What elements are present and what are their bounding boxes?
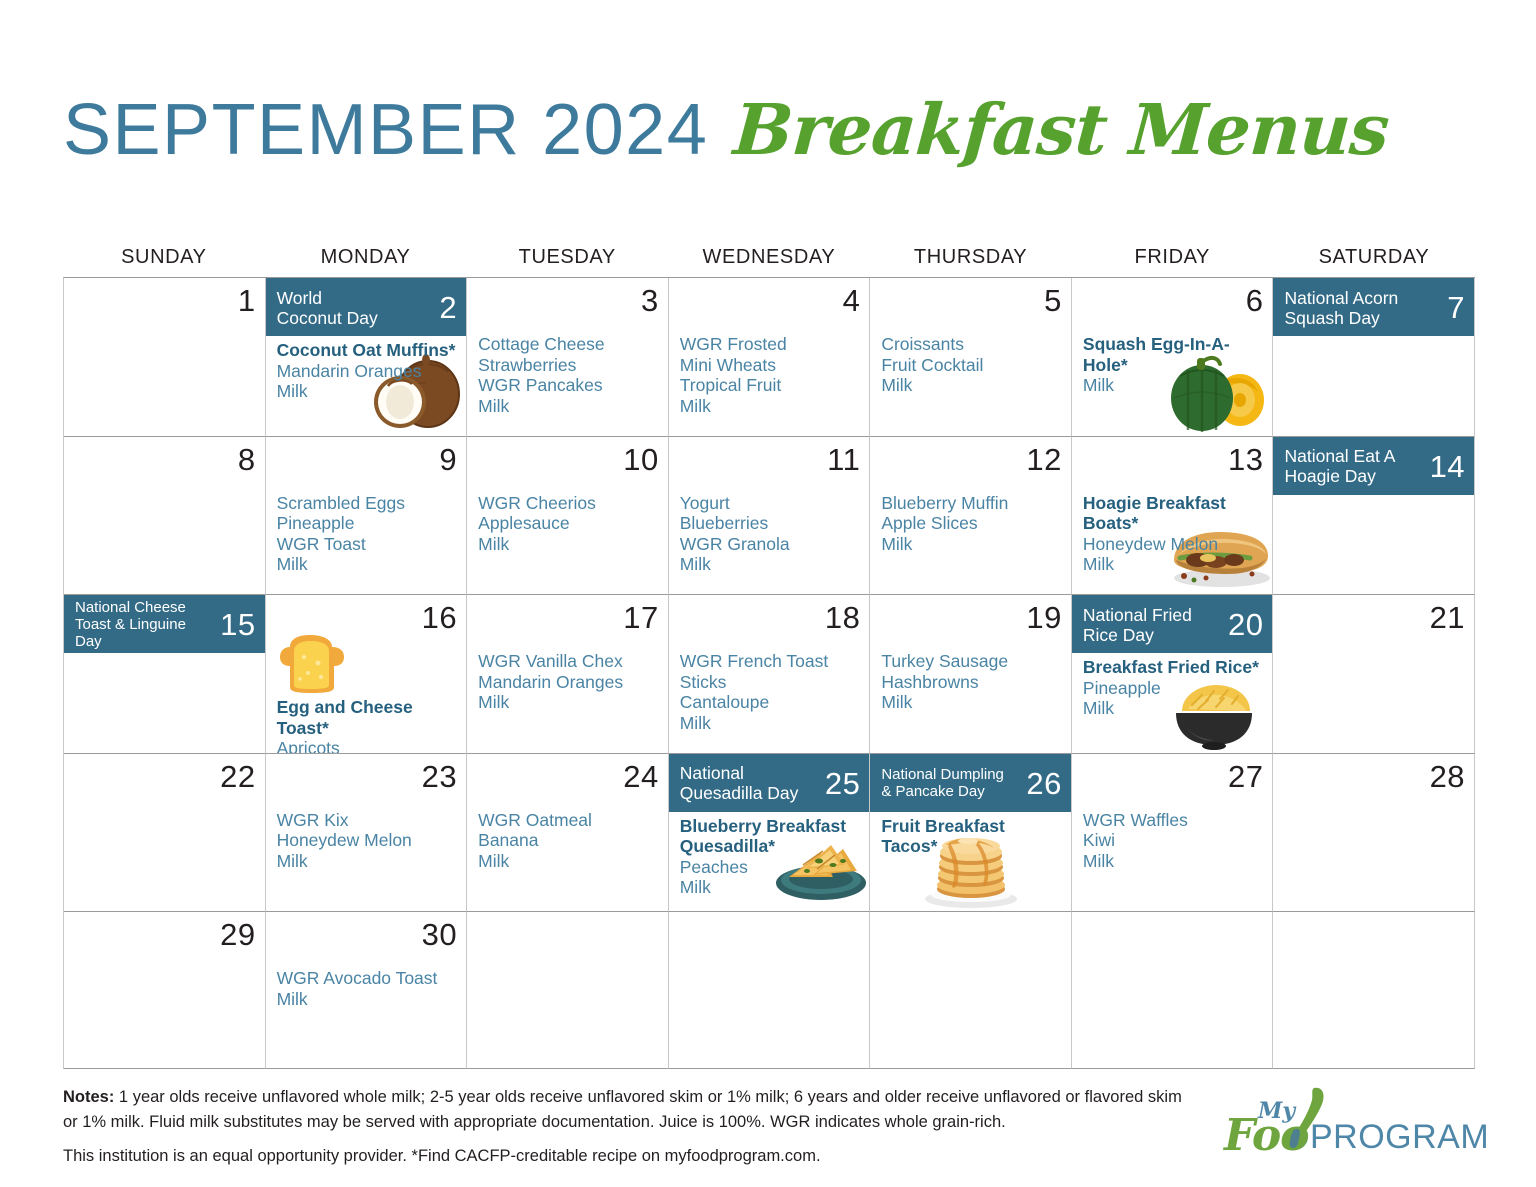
menu-list: WGR FrostedMini WheatsTropical FruitMilk bbox=[669, 330, 870, 416]
day-header: 11 bbox=[669, 437, 870, 489]
menu-list: WGR French ToastSticksCantaloupeMilk bbox=[669, 647, 870, 733]
menu-item: Applesauce bbox=[478, 513, 658, 534]
day-cell-9[interactable]: 9Scrambled EggsPineappleWGR ToastMilk bbox=[266, 437, 468, 596]
menu-list: WGR OatmealBananaMilk bbox=[467, 806, 668, 872]
menu-item: Pineapple bbox=[1083, 678, 1263, 699]
menu-item: WGR Kix bbox=[277, 810, 457, 831]
day-number: 8 bbox=[238, 444, 256, 475]
weekday-label-saturday: SATURDAY bbox=[1273, 246, 1475, 269]
day-number: 11 bbox=[827, 444, 860, 475]
menu-list: WGR Avocado ToastMilk bbox=[266, 964, 467, 1009]
menu-list: Scrambled EggsPineappleWGR ToastMilk bbox=[266, 489, 467, 575]
day-number: 18 bbox=[825, 602, 860, 633]
menu-item: Milk bbox=[680, 554, 860, 575]
day-number: 12 bbox=[1026, 444, 1061, 475]
menu-item-recipe: Coconut Oat Muffins* bbox=[277, 340, 457, 361]
notes-paragraph-1: 1 year olds receive unflavored whole mil… bbox=[63, 1088, 1182, 1131]
day-header: 16 bbox=[266, 595, 467, 647]
day-number: 13 bbox=[1228, 444, 1263, 475]
menu-item: WGR Toast bbox=[277, 534, 457, 555]
day-header: 27 bbox=[1072, 754, 1273, 806]
menu-item: Mini Wheats bbox=[680, 355, 860, 376]
day-cell-16[interactable]: 16 Egg and CheeseToast*ApricotsMilk bbox=[266, 595, 468, 754]
day-cell-11[interactable]: 11YogurtBlueberriesWGR GranolaMilk bbox=[669, 437, 871, 596]
special-day-name: National Dumpling& Pancake Day bbox=[881, 766, 1026, 800]
my-food-program-logo: My Foo PROGRAM bbox=[1218, 1082, 1488, 1168]
menu-item: Pineapple bbox=[277, 513, 457, 534]
menu-item: Milk bbox=[881, 375, 1061, 396]
day-header: 1 bbox=[64, 278, 265, 330]
calendar-week-row: 89Scrambled EggsPineappleWGR ToastMilk10… bbox=[64, 437, 1475, 596]
menu-item-recipe: Fruit Breakfast Tacos* bbox=[881, 816, 1061, 857]
day-number: 26 bbox=[1026, 768, 1061, 799]
menu-list: Breakfast Fried Rice*PineappleMilk bbox=[1072, 653, 1273, 719]
day-header: 9 bbox=[266, 437, 467, 489]
day-number: 21 bbox=[1430, 602, 1465, 633]
day-number: 25 bbox=[825, 768, 860, 799]
weekday-label-tuesday: TUESDAY bbox=[466, 246, 668, 269]
day-number: 29 bbox=[220, 919, 255, 950]
menu-item: WGR Oatmeal bbox=[478, 810, 658, 831]
menu-list: Egg and CheeseToast*ApricotsMilk bbox=[266, 691, 467, 754]
menu-list: Coconut Oat Muffins*Mandarin OrangesMilk bbox=[266, 336, 467, 402]
calendar-grid: 1WorldCoconut Day2 Coconut Oat Muffins*M… bbox=[63, 277, 1475, 1069]
menu-item: Milk bbox=[277, 851, 457, 872]
day-cell-30[interactable]: 30WGR Avocado ToastMilk bbox=[266, 912, 468, 1069]
menu-list: Fruit Breakfast Tacos* bbox=[870, 812, 1071, 857]
day-cell-26[interactable]: National Dumpling& Pancake Day26 Fruit B… bbox=[870, 754, 1072, 913]
special-day-name: NationalQuesadilla Day bbox=[680, 763, 825, 803]
day-header: 4 bbox=[669, 278, 870, 330]
menu-item-recipe: Quesadilla* bbox=[680, 836, 860, 857]
day-cell-15[interactable]: National CheeseToast & Linguine Day15 bbox=[64, 595, 266, 754]
special-day-name: National Eat AHoagie Day bbox=[1284, 446, 1429, 486]
day-cell-17[interactable]: 17WGR Vanilla ChexMandarin OrangesMilk bbox=[467, 595, 669, 754]
notes-label: Notes: bbox=[63, 1088, 114, 1106]
day-special-header: National Dumpling& Pancake Day26 bbox=[870, 754, 1071, 812]
day-number: 23 bbox=[422, 761, 457, 792]
menu-item-recipe: Egg and Cheese bbox=[277, 697, 457, 718]
day-number: 28 bbox=[1430, 761, 1465, 792]
menu-item: WGR Vanilla Chex bbox=[478, 651, 658, 672]
menu-item: Milk bbox=[1083, 554, 1263, 575]
day-cell-empty bbox=[870, 912, 1072, 1069]
menu-item: Milk bbox=[1083, 698, 1263, 719]
day-cell-10[interactable]: 10WGR CheeriosApplesauceMilk bbox=[467, 437, 669, 596]
day-cell-8[interactable]: 8 bbox=[64, 437, 266, 596]
logo-artwork: My Foo PROGRAM bbox=[1218, 1082, 1488, 1168]
day-number: 20 bbox=[1228, 609, 1263, 640]
day-cell-empty bbox=[1072, 912, 1274, 1069]
menu-item-recipe: Breakfast Fried Rice* bbox=[1083, 657, 1263, 678]
day-special-header: National FriedRice Day20 bbox=[1072, 595, 1273, 653]
day-number: 15 bbox=[220, 609, 255, 640]
menu-item: WGR Frosted bbox=[680, 334, 860, 355]
menu-item: Milk bbox=[478, 851, 658, 872]
day-cell-25[interactable]: NationalQuesadilla Day25 Blueberry Break… bbox=[669, 754, 871, 913]
weekday-label-friday: FRIDAY bbox=[1071, 246, 1273, 269]
menu-item: Milk bbox=[277, 989, 457, 1010]
menu-list: WGR KixHoneydew MelonMilk bbox=[266, 806, 467, 872]
special-day-name: National FriedRice Day bbox=[1083, 605, 1228, 645]
menu-list: Blueberry MuffinApple SlicesMilk bbox=[870, 489, 1071, 555]
day-cell-24[interactable]: 24WGR OatmealBananaMilk bbox=[467, 754, 669, 913]
menu-item: Tropical Fruit bbox=[680, 375, 860, 396]
menu-item: Kiwi bbox=[1083, 830, 1263, 851]
day-number: 27 bbox=[1228, 761, 1263, 792]
menu-item: WGR Avocado Toast bbox=[277, 968, 457, 989]
menu-list: WGR Vanilla ChexMandarin OrangesMilk bbox=[467, 647, 668, 713]
menu-item: Milk bbox=[1083, 851, 1263, 872]
day-number: 22 bbox=[220, 761, 255, 792]
menu-list: Blueberry BreakfastQuesadilla*PeachesMil… bbox=[669, 812, 870, 898]
menu-item: WGR Granola bbox=[680, 534, 860, 555]
menu-list: Cottage CheeseStrawberriesWGR PancakesMi… bbox=[467, 330, 668, 416]
menu-item-recipe: Squash Egg-In-A-Hole* bbox=[1083, 334, 1263, 375]
day-header: 19 bbox=[870, 595, 1071, 647]
notes-block: Notes: 1 year olds receive unflavored wh… bbox=[63, 1085, 1193, 1169]
day-number: 4 bbox=[843, 285, 861, 316]
day-number: 1 bbox=[238, 285, 256, 316]
special-day-name: National CheeseToast & Linguine Day bbox=[75, 599, 220, 650]
day-cell-5[interactable]: 5CroissantsFruit CocktailMilk bbox=[870, 278, 1072, 437]
day-cell-29[interactable]: 29 bbox=[64, 912, 266, 1069]
day-header: 21 bbox=[1273, 595, 1474, 647]
day-number: 24 bbox=[623, 761, 658, 792]
menu-list: YogurtBlueberriesWGR GranolaMilk bbox=[669, 489, 870, 575]
menu-item: Blueberry Muffin bbox=[881, 493, 1061, 514]
weekday-label-monday: MONDAY bbox=[265, 246, 467, 269]
menu-item: Fruit Cocktail bbox=[881, 355, 1061, 376]
day-cell-2[interactable]: WorldCoconut Day2 Coconut Oat Muffins*Ma… bbox=[266, 278, 468, 437]
menu-item: Apple Slices bbox=[881, 513, 1061, 534]
day-header: 13 bbox=[1072, 437, 1273, 489]
menu-item: Honeydew Melon bbox=[277, 830, 457, 851]
day-header bbox=[870, 912, 1071, 964]
day-header bbox=[1072, 912, 1273, 964]
day-special-header: NationalQuesadilla Day25 bbox=[669, 754, 870, 812]
day-header: 22 bbox=[64, 754, 265, 806]
day-number: 17 bbox=[623, 602, 658, 633]
day-header: 29 bbox=[64, 912, 265, 964]
weekday-label-sunday: SUNDAY bbox=[63, 246, 265, 269]
menu-item: Milk bbox=[680, 713, 860, 734]
title-script: Breakfast Menus bbox=[731, 88, 1391, 171]
menu-item: Milk bbox=[881, 692, 1061, 713]
day-special-header: National Eat AHoagie Day14 bbox=[1273, 437, 1474, 495]
svg-text:PROGRAM: PROGRAM bbox=[1310, 1118, 1488, 1156]
menu-item: Milk bbox=[1083, 375, 1263, 396]
day-cell-7[interactable]: National AcornSquash Day7 bbox=[1273, 278, 1475, 437]
menu-item: Yogurt bbox=[680, 493, 860, 514]
day-header: 10 bbox=[467, 437, 668, 489]
menu-list: CroissantsFruit CocktailMilk bbox=[870, 330, 1071, 396]
menu-item: Blueberries bbox=[680, 513, 860, 534]
day-number: 5 bbox=[1044, 285, 1062, 316]
day-cell-14[interactable]: National Eat AHoagie Day14 bbox=[1273, 437, 1475, 596]
calendar-week-row: 1WorldCoconut Day2 Coconut Oat Muffins*M… bbox=[64, 278, 1475, 437]
day-number: 10 bbox=[623, 444, 658, 475]
day-special-header: WorldCoconut Day2 bbox=[266, 278, 467, 336]
menu-item: Milk bbox=[680, 396, 860, 417]
menu-item: WGR French Toast bbox=[680, 651, 860, 672]
day-header: 23 bbox=[266, 754, 467, 806]
day-header: 18 bbox=[669, 595, 870, 647]
menu-item: Sticks bbox=[680, 672, 860, 693]
day-header: 3 bbox=[467, 278, 668, 330]
special-day-name: National AcornSquash Day bbox=[1284, 288, 1447, 328]
menu-list: Turkey SausageHashbrownsMilk bbox=[870, 647, 1071, 713]
day-cell-1[interactable]: 1 bbox=[64, 278, 266, 437]
day-header: 30 bbox=[266, 912, 467, 964]
menu-item: WGR Waffles bbox=[1083, 810, 1263, 831]
special-day-name: WorldCoconut Day bbox=[277, 288, 440, 328]
day-header: 5 bbox=[870, 278, 1071, 330]
day-number: 9 bbox=[439, 444, 457, 475]
day-special-header: National CheeseToast & Linguine Day15 bbox=[64, 595, 265, 653]
day-number: 3 bbox=[641, 285, 659, 316]
menu-item: Apricots bbox=[277, 738, 457, 754]
menu-item: Cantaloupe bbox=[680, 692, 860, 713]
menu-item: Honeydew Melon bbox=[1083, 534, 1263, 555]
title-month: SEPTEMBER 2024 bbox=[63, 89, 708, 171]
weekday-label-wednesday: WEDNESDAY bbox=[668, 246, 870, 269]
menu-item: Milk bbox=[277, 381, 457, 402]
menu-item: Milk bbox=[680, 877, 860, 898]
day-cell-13[interactable]: 13 Hoagie BreakfastBoats*Honeydew MelonM… bbox=[1072, 437, 1274, 596]
menu-item: Peaches bbox=[680, 857, 860, 878]
menu-item: Croissants bbox=[881, 334, 1061, 355]
day-number: 16 bbox=[422, 602, 457, 633]
day-number: 30 bbox=[422, 919, 457, 950]
day-number: 7 bbox=[1447, 292, 1465, 323]
menu-item: Cottage Cheese bbox=[478, 334, 658, 355]
day-header: 8 bbox=[64, 437, 265, 489]
menu-item: Milk bbox=[478, 692, 658, 713]
day-header bbox=[467, 912, 668, 964]
menu-item: Milk bbox=[478, 534, 658, 555]
menu-item: Turkey Sausage bbox=[881, 651, 1061, 672]
day-cell-28[interactable]: 28 bbox=[1273, 754, 1475, 913]
menu-item: Milk bbox=[478, 396, 658, 417]
menu-item: Scrambled Eggs bbox=[277, 493, 457, 514]
day-header: 17 bbox=[467, 595, 668, 647]
day-cell-empty bbox=[467, 912, 669, 1069]
svg-text:Foo: Foo bbox=[1222, 1110, 1309, 1161]
day-header: 12 bbox=[870, 437, 1071, 489]
day-cell-21[interactable]: 21 bbox=[1273, 595, 1475, 754]
day-cell-12[interactable]: 12Blueberry MuffinApple SlicesMilk bbox=[870, 437, 1072, 596]
day-cell-22[interactable]: 22 bbox=[64, 754, 266, 913]
menu-list: Hoagie BreakfastBoats*Honeydew MelonMilk bbox=[1072, 489, 1273, 575]
day-number: 6 bbox=[1246, 285, 1264, 316]
menu-item-recipe: Boats* bbox=[1083, 513, 1263, 534]
day-cell-empty bbox=[1273, 912, 1475, 1069]
day-cell-empty bbox=[669, 912, 871, 1069]
menu-item: Milk bbox=[277, 554, 457, 575]
day-cell-27[interactable]: 27WGR WafflesKiwiMilk bbox=[1072, 754, 1274, 913]
menu-item-recipe: Hoagie Breakfast bbox=[1083, 493, 1263, 514]
day-number: 14 bbox=[1430, 451, 1465, 482]
day-number: 19 bbox=[1026, 602, 1061, 633]
menu-item: Hashbrowns bbox=[881, 672, 1061, 693]
calendar-week-row: 2930WGR Avocado ToastMilk bbox=[64, 912, 1475, 1069]
day-cell-4[interactable]: 4WGR FrostedMini WheatsTropical FruitMil… bbox=[669, 278, 871, 437]
day-cell-6[interactable]: 6 Squash Egg-In-A-Hole*Milk bbox=[1072, 278, 1274, 437]
menu-item: WGR Pancakes bbox=[478, 375, 658, 396]
weekday-label-thursday: THURSDAY bbox=[870, 246, 1072, 269]
day-number: 2 bbox=[439, 292, 457, 323]
menu-item-recipe: Toast* bbox=[277, 718, 457, 739]
menu-list: WGR WafflesKiwiMilk bbox=[1072, 806, 1273, 872]
day-cell-20[interactable]: National FriedRice Day20 Breakfast Fried… bbox=[1072, 595, 1274, 754]
menu-item: Mandarin Oranges bbox=[478, 672, 658, 693]
menu-list: Squash Egg-In-A-Hole*Milk bbox=[1072, 330, 1273, 396]
menu-item: Milk bbox=[881, 534, 1061, 555]
day-special-header: National AcornSquash Day7 bbox=[1273, 278, 1474, 336]
notes-paragraph-2: This institution is an equal opportunity… bbox=[63, 1144, 1193, 1169]
day-cell-3[interactable]: 3Cottage CheeseStrawberriesWGR PancakesM… bbox=[467, 278, 669, 437]
day-header bbox=[1273, 912, 1474, 964]
menu-list: WGR CheeriosApplesauceMilk bbox=[467, 489, 668, 555]
calendar-week-row: National CheeseToast & Linguine Day1516 … bbox=[64, 595, 1475, 754]
day-cell-23[interactable]: 23WGR KixHoneydew MelonMilk bbox=[266, 754, 468, 913]
weekday-header-row: SUNDAYMONDAYTUESDAYWEDNESDAYTHURSDAYFRID… bbox=[63, 246, 1475, 269]
menu-item: Strawberries bbox=[478, 355, 658, 376]
day-header bbox=[669, 912, 870, 964]
day-cell-18[interactable]: 18WGR French ToastSticksCantaloupeMilk bbox=[669, 595, 871, 754]
calendar-week-row: 2223WGR KixHoneydew MelonMilk24WGR Oatme… bbox=[64, 754, 1475, 913]
day-header: 6 bbox=[1072, 278, 1273, 330]
day-cell-19[interactable]: 19Turkey SausageHashbrownsMilk bbox=[870, 595, 1072, 754]
menu-item: Mandarin Oranges bbox=[277, 361, 457, 382]
menu-item: WGR Cheerios bbox=[478, 493, 658, 514]
day-header: 28 bbox=[1273, 754, 1474, 806]
day-header: 24 bbox=[467, 754, 668, 806]
menu-item-recipe: Blueberry Breakfast bbox=[680, 816, 860, 837]
menu-item: Banana bbox=[478, 830, 658, 851]
page-title: SEPTEMBER 2024 Breakfast Menus bbox=[63, 88, 1389, 171]
